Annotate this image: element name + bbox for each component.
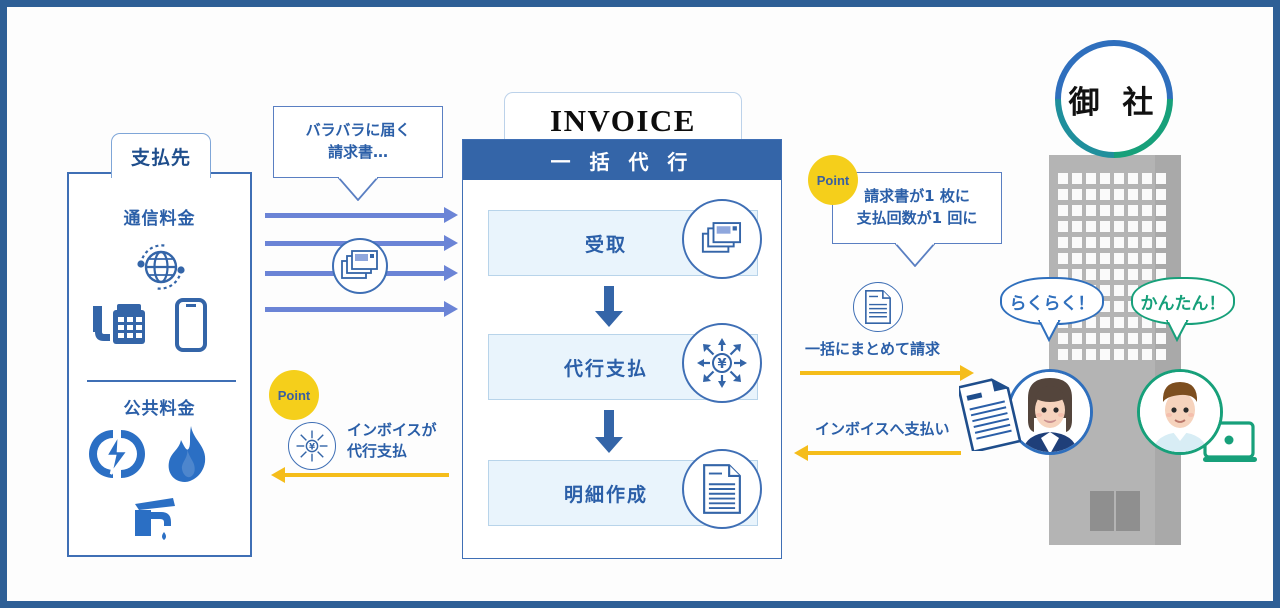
yen-radiate-icon: ¥ <box>288 422 336 470</box>
payee-tab: 支払先 <box>111 133 211 178</box>
building-entrance <box>1090 491 1140 531</box>
scatter-line-1: バラバラに届く <box>306 120 411 142</box>
step-connector-2 <box>604 410 614 438</box>
scattered-invoices-bubble: バラバラに届く 請求書… <box>273 106 443 178</box>
smartphone-icon <box>169 296 213 359</box>
bubble-tail-icon <box>338 177 378 201</box>
bubble-tail-icon <box>1165 320 1191 342</box>
service-header: 一 括 代 行 <box>463 140 781 180</box>
building-windows <box>1058 173 1172 360</box>
point-badge-left: Point <box>269 370 319 420</box>
envelope-stack-icon <box>682 199 762 279</box>
payee-tab-label: 支払先 <box>131 143 191 170</box>
speech-bubble-rakuraku-label: らくらく！ <box>1010 289 1095 314</box>
company-label: 御 社 <box>1055 40 1173 158</box>
payee-panel: 通信料金 <box>67 172 252 557</box>
speech-bubble-rakuraku: らくらく！ <box>1000 277 1104 325</box>
document-lines-icon <box>853 282 903 332</box>
arrow-pay-invoice <box>807 451 961 455</box>
arrow-consolidated-billing <box>800 371 961 375</box>
svg-text:¥: ¥ <box>717 357 726 372</box>
bubble-tail-icon <box>1037 320 1063 342</box>
section-title-utility: 公共料金 <box>69 394 250 419</box>
diagram-frame: 支払先 通信料金 <box>0 0 1280 608</box>
globe-network-icon <box>131 236 191 301</box>
point-badge-left-label: Point <box>278 388 311 403</box>
man-avatar <box>1137 369 1223 455</box>
water-faucet-icon <box>125 492 187 549</box>
yen-radiate-icon: ¥ <box>682 323 762 403</box>
invoice-document-icon <box>959 375 1021 451</box>
svg-text:¥: ¥ <box>309 442 315 452</box>
step-statement[interactable]: 明細作成 <box>488 460 758 526</box>
point-left-line-2: 代行支払 <box>347 441 437 462</box>
step-proxy-payment[interactable]: 代行支払 ¥ <box>488 334 758 400</box>
invoice-brand-label: INVOICE <box>550 103 696 139</box>
invoice-service-panel: 一 括 代 行 受取 代行支払 <box>462 139 782 559</box>
point-right-line-2: 支払回数が1 回に <box>857 208 978 230</box>
speech-bubble-kantan: かんたん！ <box>1131 277 1235 325</box>
envelope-stack-icon <box>332 238 388 294</box>
point-badge-right-label: Point <box>817 173 850 188</box>
diagram-canvas: 支払先 通信料金 <box>7 7 1273 601</box>
speech-bubble-kantan-label: かんたん！ <box>1141 289 1226 314</box>
point-left-line-1: インボイスが <box>347 420 437 441</box>
bubble-tail-icon <box>895 243 935 267</box>
office-building-icon <box>1049 155 1181 545</box>
step-connector-1 <box>604 286 614 312</box>
scatter-line-2: 請求書… <box>328 142 388 164</box>
gas-flame-icon <box>163 424 215 489</box>
desk-phone-icon <box>87 296 151 359</box>
flow-arrow-4 <box>265 307 445 312</box>
service-header-label: 一 括 代 行 <box>551 146 694 175</box>
section-title-telecom: 通信料金 <box>69 204 250 229</box>
arrow-proxy-payment-left <box>284 473 449 477</box>
step-receive[interactable]: 受取 <box>488 210 758 276</box>
document-lines-icon <box>682 449 762 529</box>
electricity-icon <box>89 426 145 487</box>
point-left-text: インボイスが 代行支払 <box>347 420 437 462</box>
flow-arrow-1 <box>265 213 445 218</box>
point-right-line-1: 請求書が1 枚に <box>864 186 970 208</box>
flow-label-pay-invoice: インボイスへ支払い <box>815 418 950 439</box>
flow-label-consolidated-billing: 一括にまとめて請求 <box>805 338 940 359</box>
section-divider <box>87 380 236 382</box>
point-badge-right: Point <box>808 155 858 205</box>
